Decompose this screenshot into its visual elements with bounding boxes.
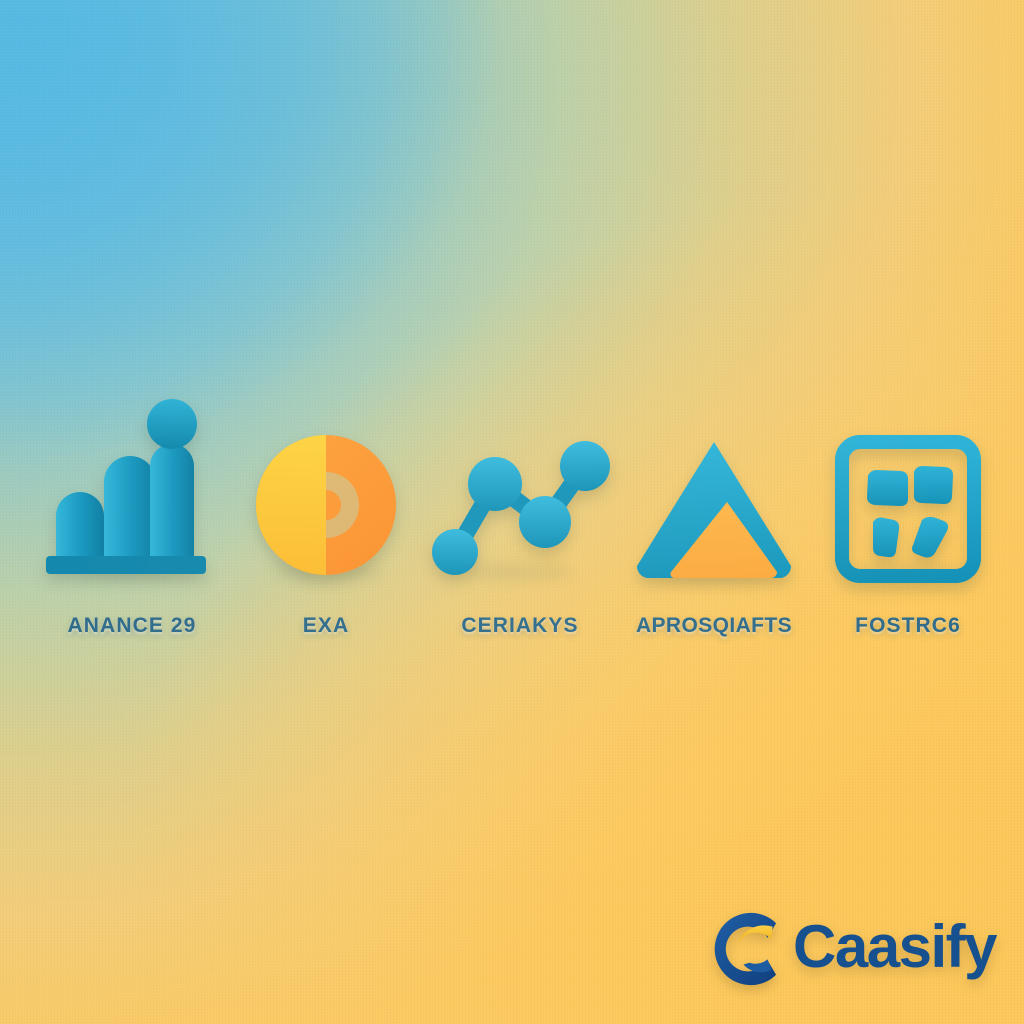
icon-label: EXA [303,614,349,638]
icon-item-line-graph[interactable]: CERIAKYS [428,398,612,638]
icon-item-dashboard-grid[interactable]: FOSTRC6 [816,398,1000,638]
icon-label: FOSTRC6 [855,614,961,638]
brand-logo[interactable]: Caasify [709,906,996,992]
triangle-mountain-icon [634,428,794,580]
icon-label: APROSQIAFTS [636,614,792,638]
line-graph-icon [440,428,600,580]
poster-canvas: ANANCE 29 [0,0,1024,1024]
bar-chart-icon [52,428,212,580]
caasify-logo-mark [709,906,795,992]
icon-label: CERIAKYS [461,614,578,638]
icon-item-bar-chart[interactable]: ANANCE 29 [40,398,224,638]
icon-row: ANANCE 29 [40,398,1000,638]
icon-item-mountain[interactable]: APROSQIAFTS [622,398,806,638]
donut-chart-icon [246,428,406,580]
dashboard-grid-icon [828,428,988,580]
icon-label: ANANCE 29 [68,614,197,638]
icon-item-donut-chart[interactable]: EXA [234,398,418,638]
brand-wordmark: Caasify [793,917,996,977]
